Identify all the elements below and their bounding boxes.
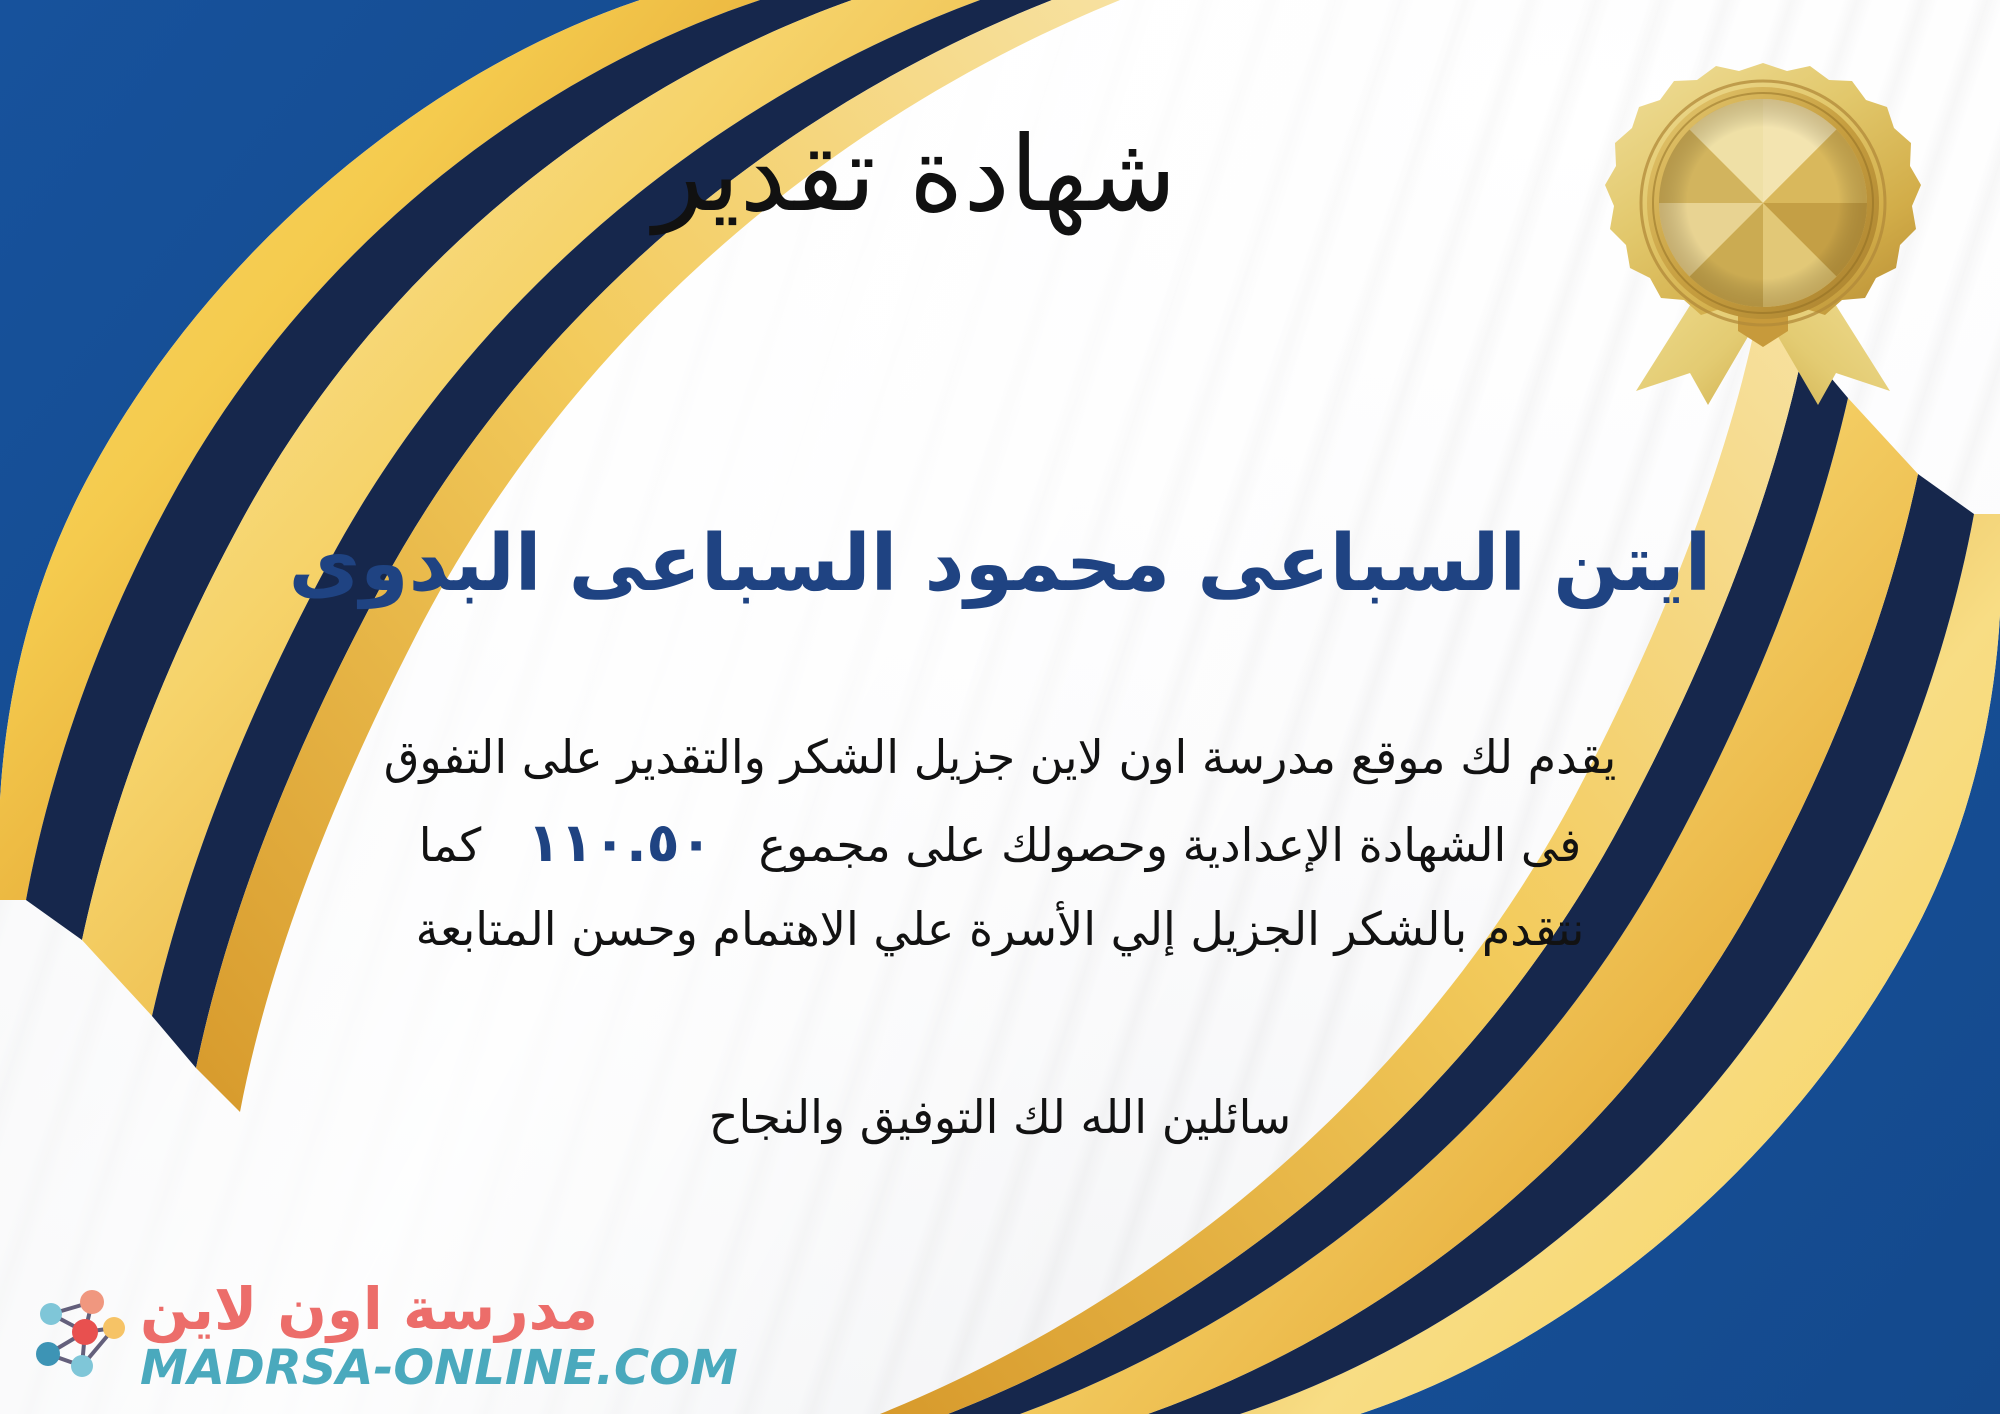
closing-wish: سائلين الله لك التوفيق والنجاح (0, 1090, 2000, 1144)
brand-logo[interactable]: مدرسة اون لاين MADRSA-ONLINE.COM (30, 1280, 738, 1392)
brand-text-block: مدرسة اون لاين MADRSA-ONLINE.COM (140, 1280, 738, 1392)
body-line-2-prefix: فى الشهادة الإعدادية وحصولك على مجموع (759, 818, 1582, 872)
gold-award-medal-icon (1598, 55, 1928, 405)
certificate-title: شهادة تقدير (0, 120, 2000, 229)
body-line-1: يقدم لك موقع مدرسة اون لاين جزيل الشكر و… (60, 718, 1940, 797)
network-nodes-icon (30, 1284, 126, 1388)
body-line-2-suffix: كما (419, 818, 482, 872)
certificate-canvas: شهادة تقدير ايتن السباعى محمود السباعى ا… (0, 0, 2000, 1414)
certificate-body: يقدم لك موقع مدرسة اون لاين جزيل الشكر و… (60, 718, 1940, 969)
recipient-name: ايتن السباعى محمود السباعى البدوى (0, 520, 2000, 610)
total-score-value: ١١٠.٥٠ (481, 811, 758, 874)
body-line-2: فى الشهادة الإعدادية وحصولك على مجموع١١٠… (60, 797, 1940, 890)
brand-website[interactable]: MADRSA-ONLINE.COM (140, 1344, 738, 1392)
brand-arabic-name: مدرسة اون لاين (140, 1280, 598, 1338)
body-line-3: نتقدم بالشكر الجزيل إلي الأسرة علي الاهت… (60, 890, 1940, 969)
